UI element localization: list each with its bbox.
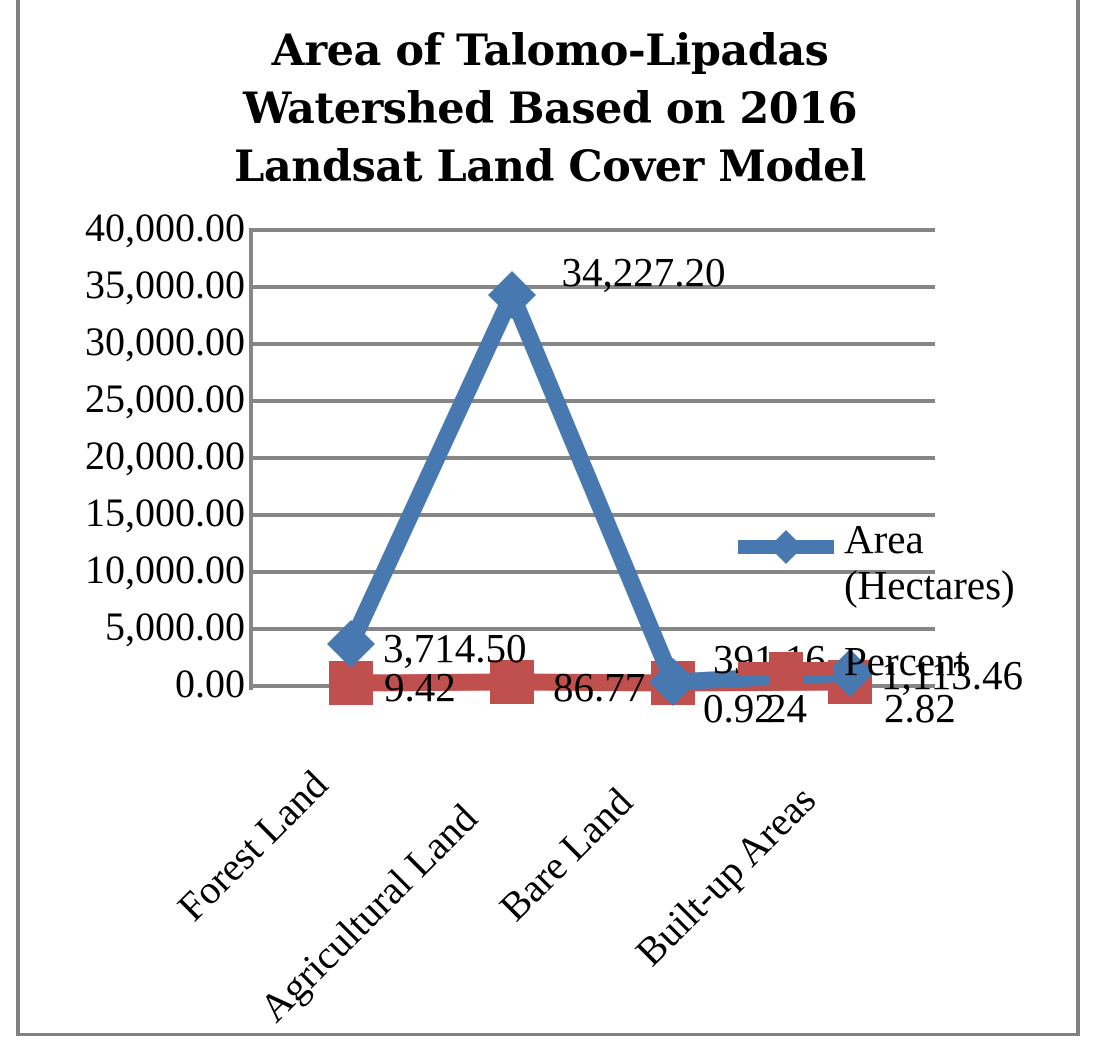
- gridline: [253, 513, 935, 517]
- y-tick-label: 35,000.00: [10, 265, 245, 305]
- data-label-percent-agricultural: 86.77: [553, 665, 645, 710]
- gridline: [253, 570, 935, 574]
- plot-area: [253, 228, 935, 686]
- chart-title: Area of Talomo-Lipadas Watershed Based o…: [120, 22, 980, 196]
- gridline: [253, 456, 935, 460]
- legend-label-percent: Percent: [844, 638, 967, 684]
- gridline: [253, 228, 935, 232]
- y-tick-label: 5,000.00: [10, 607, 245, 647]
- chart-title-line-2: Watershed Based on 2016: [120, 80, 980, 138]
- gridline: [253, 627, 935, 631]
- y-tick-label: 25,000.00: [10, 379, 245, 419]
- gridline: [253, 399, 935, 403]
- y-tick-label: 15,000.00: [10, 493, 245, 533]
- y-tick-label: 0.00: [10, 664, 245, 704]
- y-tick-label: 10,000.00: [10, 550, 245, 590]
- chart-title-line-3: Landsat Land Cover Model: [120, 138, 980, 196]
- legend-marker-square-icon: [736, 652, 836, 686]
- data-label-percent-builtup: 2.82: [884, 686, 956, 731]
- y-tick-label: 20,000.00: [10, 436, 245, 476]
- y-tick-label: 40,000.00: [10, 208, 245, 248]
- legend-marker-diamond-icon: [736, 530, 836, 564]
- data-label-percent-forest: 9.42: [384, 665, 456, 710]
- y-tick-label: 30,000.00: [10, 322, 245, 362]
- overlapping-label-fragment: 24: [766, 686, 807, 731]
- data-label-percent-bare: 0.92: [703, 686, 775, 731]
- data-label-area-agricultural: 34,227.20: [551, 250, 736, 295]
- gridline: [253, 342, 935, 346]
- legend-label-area-hectares: Area (Hectares): [844, 516, 1074, 608]
- chart-title-line-1: Area of Talomo-Lipadas: [120, 22, 980, 80]
